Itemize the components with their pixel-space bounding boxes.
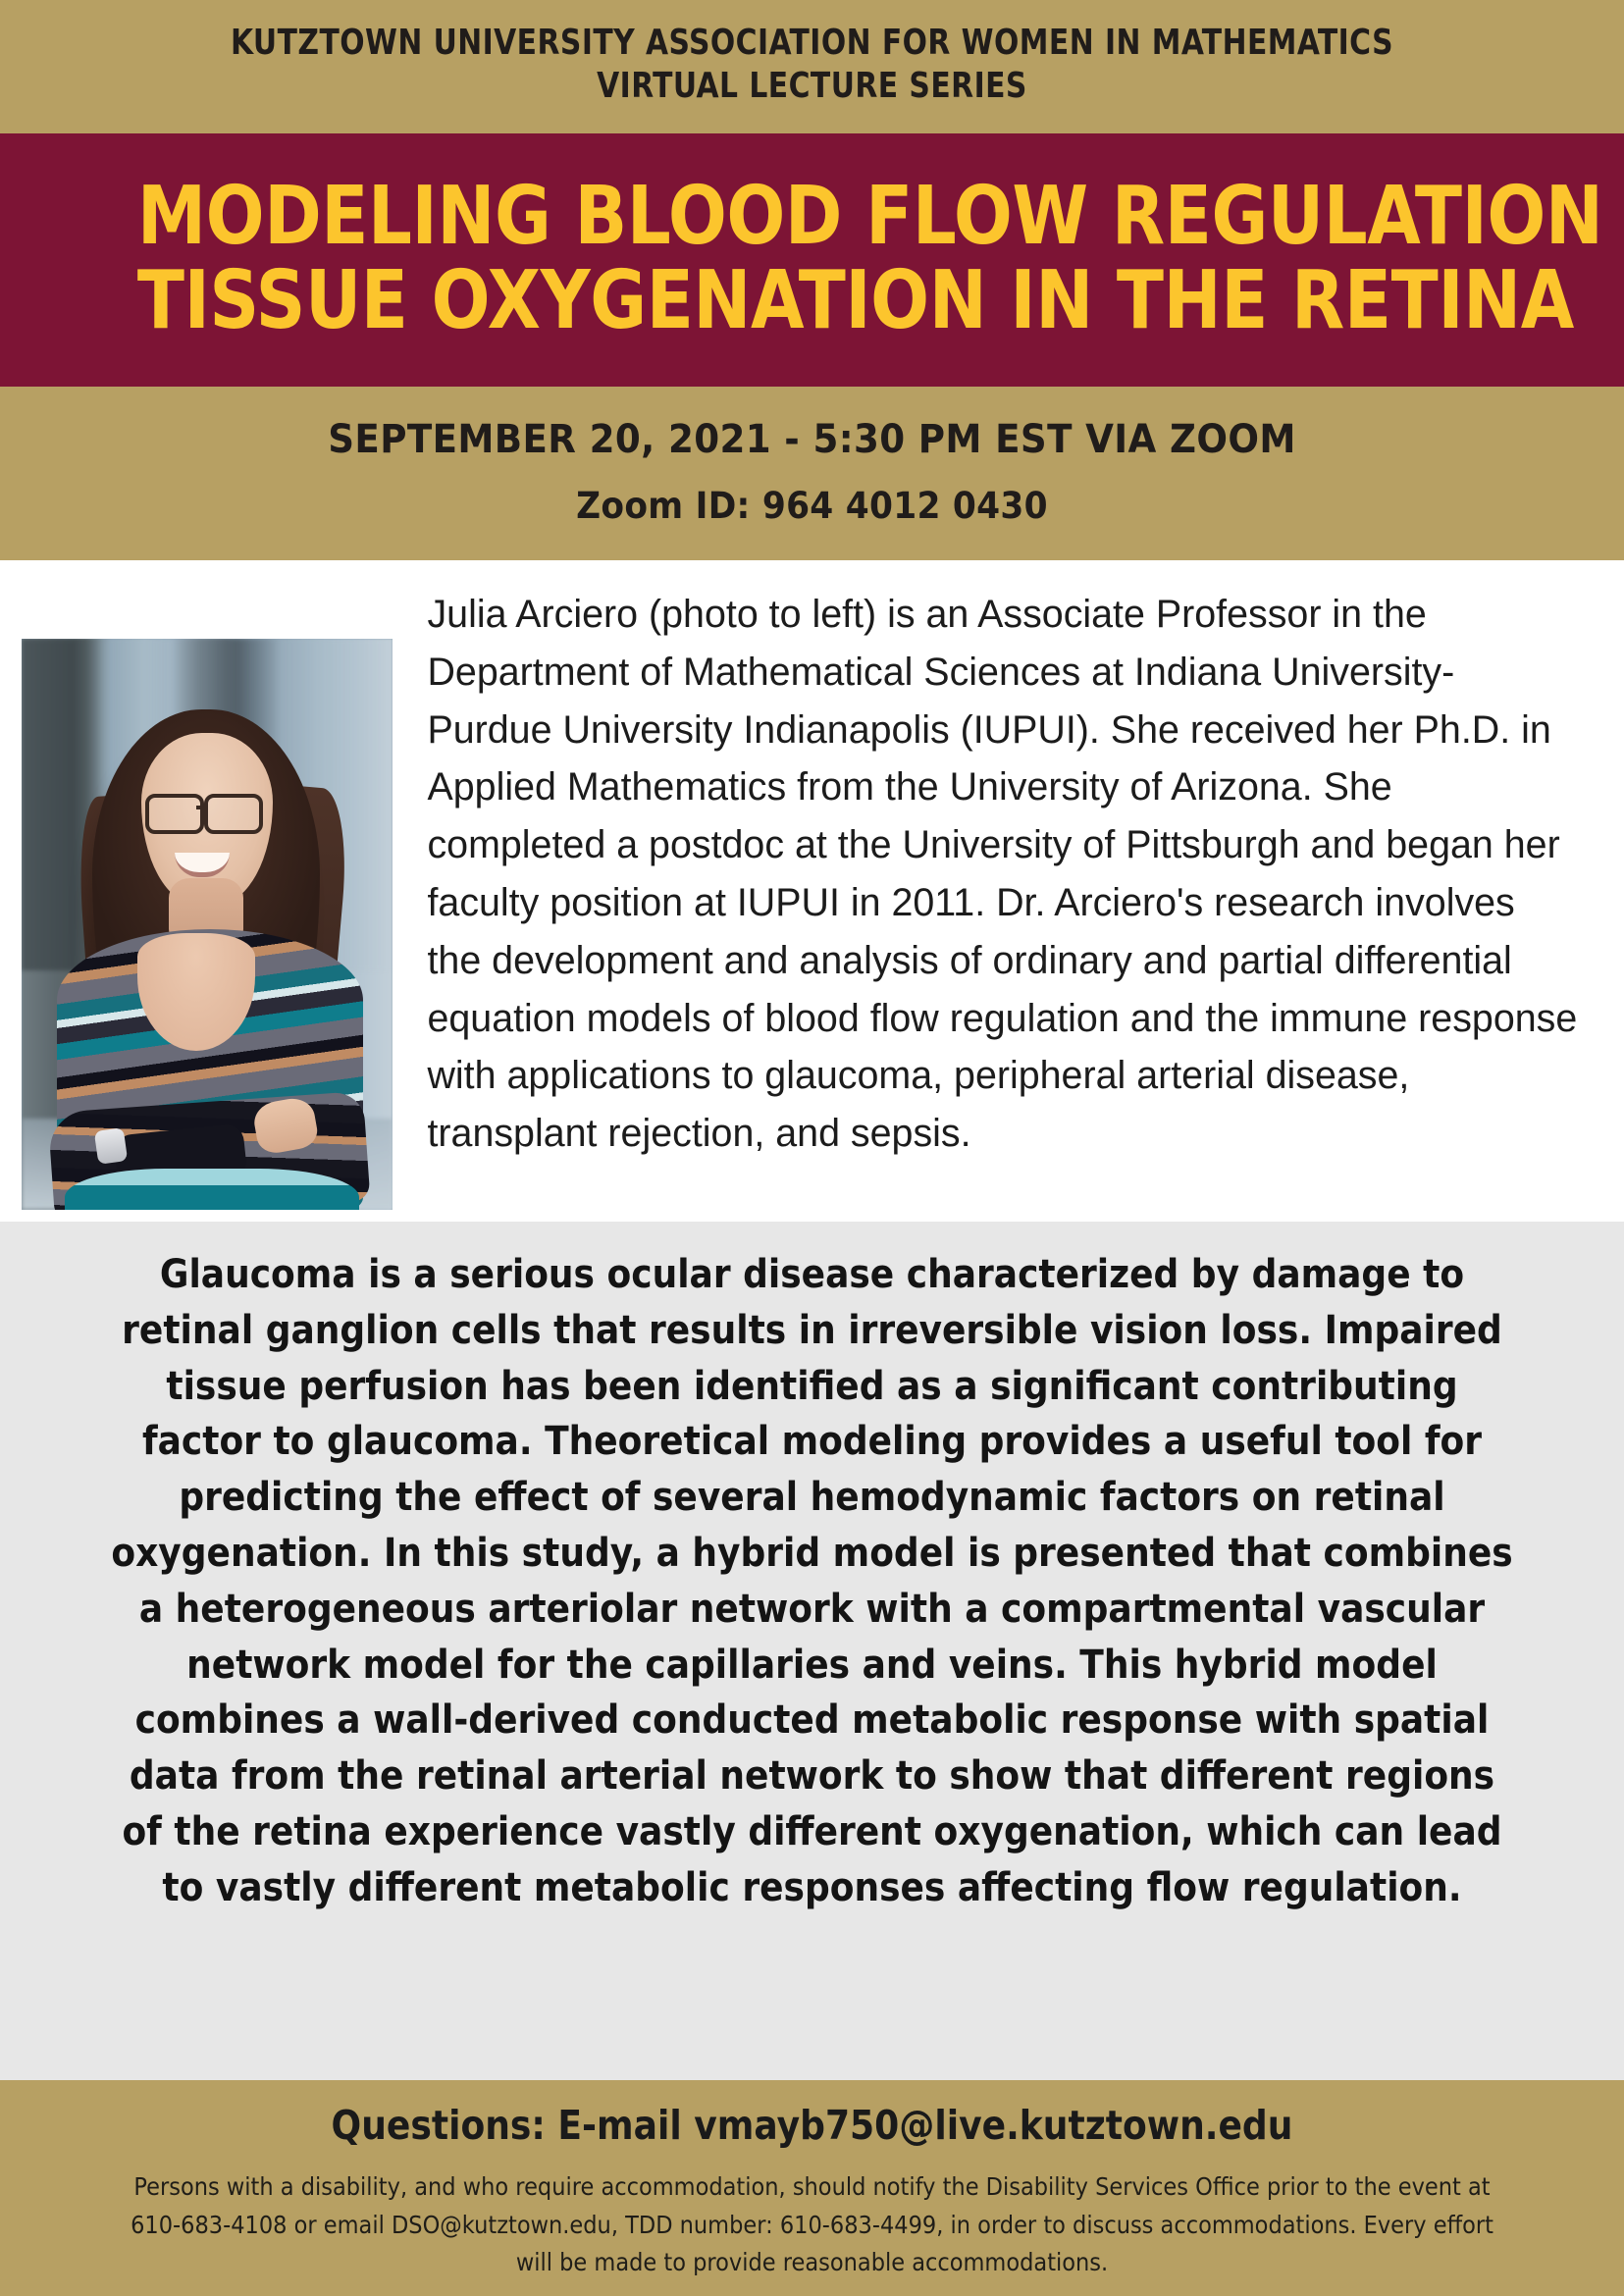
photo-wristwatch bbox=[94, 1127, 128, 1165]
organization-name-line-1: KUTZTOWN UNIVERSITY ASSOCIATION FOR WOME… bbox=[101, 22, 1523, 65]
lecture-title-line-1: MODELING BLOOD FLOW REGULATION AND bbox=[137, 175, 1487, 259]
speaker-bio-text: Julia Arciero (photo to left) is an Asso… bbox=[393, 580, 1585, 1163]
speaker-photo bbox=[22, 639, 393, 1210]
accessibility-disclaimer-text: Persons with a disability, and who requi… bbox=[129, 2168, 1494, 2282]
lecture-title-band: MODELING BLOOD FLOW REGULATION AND TISSU… bbox=[0, 133, 1624, 387]
speaker-bio-band: Julia Arciero (photo to left) is an Asso… bbox=[0, 560, 1624, 1222]
accessibility-disclaimer-band: Persons with a disability, and who requi… bbox=[0, 2168, 1624, 2296]
photo-eyeglasses-bridge bbox=[196, 806, 208, 809]
event-datetime: SEPTEMBER 20, 2021 - 5:30 PM EST VIA ZOO… bbox=[93, 416, 1531, 463]
organization-header-band: KUTZTOWN UNIVERSITY ASSOCIATION FOR WOME… bbox=[0, 0, 1624, 133]
photo-sweater-hem bbox=[65, 1169, 359, 1210]
photo-eyeglasses-left-lens bbox=[145, 794, 204, 834]
event-poster: KUTZTOWN UNIVERSITY ASSOCIATION FOR WOME… bbox=[0, 0, 1624, 2296]
questions-band: Questions: E-mail vmayb750@live.kutztown… bbox=[0, 2080, 1624, 2168]
abstract-text: Glaucoma is a serious ocular disease cha… bbox=[108, 1247, 1517, 1916]
zoom-meeting-id: Zoom ID: 964 4012 0430 bbox=[93, 485, 1531, 527]
contact-email-line[interactable]: Questions: E-mail vmayb750@live.kutztown… bbox=[124, 2102, 1501, 2149]
event-details-band: SEPTEMBER 20, 2021 - 5:30 PM EST VIA ZOO… bbox=[0, 387, 1624, 560]
lecture-title-line-2: TISSUE OXYGENATION IN THE RETINA bbox=[137, 259, 1487, 343]
photo-eyeglasses-right-lens bbox=[204, 794, 263, 834]
organization-name-line-2: VIRTUAL LECTURE SERIES bbox=[101, 65, 1523, 108]
abstract-band: Glaucoma is a serious ocular disease cha… bbox=[0, 1222, 1624, 2080]
